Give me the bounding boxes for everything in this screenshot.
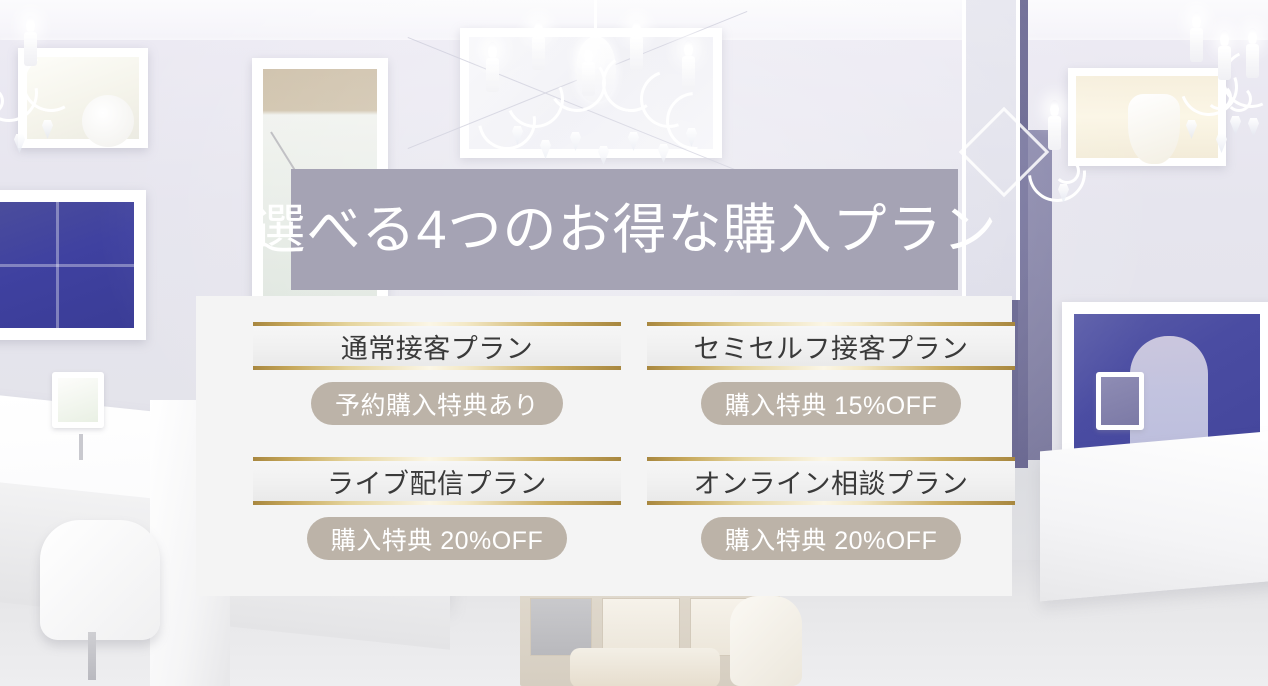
framed-mirror-top-left bbox=[18, 48, 148, 148]
plan-title: オンライン相談プラン bbox=[694, 462, 969, 501]
plans-grid: 通常接客プラン 予約購入特典あり セミセルフ接客プラン 購入特典 15%OFF … bbox=[253, 322, 955, 560]
plan-benefit-badge: 購入特典 15%OFF bbox=[701, 382, 961, 425]
plan-title: セミセルフ接客プラン bbox=[694, 327, 969, 366]
accent-wall-blue-secondary bbox=[1018, 130, 1052, 460]
salon-chair-right bbox=[730, 596, 802, 686]
promo-banner: 選べる4つのお得な購入プラン 通常接客プラン 予約購入特典あり セミセルフ接客プ… bbox=[0, 0, 1268, 686]
plan-title: ライブ配信プラン bbox=[327, 462, 547, 501]
page-title: 選べる4つのお得な購入プラン bbox=[251, 203, 997, 257]
plan-card-live-streaming[interactable]: ライブ配信プラン 購入特典 20%OFF bbox=[253, 457, 621, 560]
plan-header: ライブ配信プラン bbox=[253, 457, 621, 505]
mirror-glass bbox=[27, 57, 139, 139]
framed-monitor-left bbox=[0, 190, 146, 340]
plan-benefit-badge: 購入特典 20%OFF bbox=[307, 517, 567, 560]
plan-badge-row: 予約購入特典あり bbox=[253, 382, 621, 425]
tablet-stand bbox=[1096, 372, 1144, 430]
plan-card-semi-self-service[interactable]: セミセルフ接客プラン 購入特典 15%OFF bbox=[647, 322, 1015, 425]
plan-title: 通常接客プラン bbox=[341, 327, 534, 366]
plan-header: セミセルフ接客プラン bbox=[647, 322, 1015, 370]
plan-badge-row: 購入特典 15%OFF bbox=[647, 382, 1015, 425]
table-mirror bbox=[52, 372, 104, 428]
wall-niche-with-vase bbox=[1068, 68, 1226, 166]
counter-right bbox=[1040, 429, 1268, 602]
plans-panel: 通常接客プラン 予約購入特典あり セミセルフ接客プラン 購入特典 15%OFF … bbox=[196, 296, 1012, 596]
plan-badge-row: 購入特典 20%OFF bbox=[647, 517, 1015, 560]
framed-mirror-center bbox=[460, 28, 722, 158]
plan-header: オンライン相談プラン bbox=[647, 457, 1015, 505]
plan-card-normal-service[interactable]: 通常接客プラン 予約購入特典あり bbox=[253, 322, 621, 425]
monitor-screen bbox=[0, 202, 134, 328]
plan-badge-row: 購入特典 20%OFF bbox=[253, 517, 621, 560]
plan-card-online-consultation[interactable]: オンライン相談プラン 購入特典 20%OFF bbox=[647, 457, 1015, 560]
salon-chair bbox=[40, 520, 160, 640]
vase bbox=[1128, 94, 1180, 164]
plan-header: 通常接客プラン bbox=[253, 322, 621, 370]
stool-cushion bbox=[570, 648, 720, 686]
mirror-glass bbox=[469, 37, 713, 149]
banner-title-band: 選べる4つのお得な購入プラン bbox=[291, 169, 958, 290]
plan-benefit-badge: 購入特典 20%OFF bbox=[701, 517, 961, 560]
plan-benefit-badge: 予約購入特典あり bbox=[311, 382, 563, 425]
